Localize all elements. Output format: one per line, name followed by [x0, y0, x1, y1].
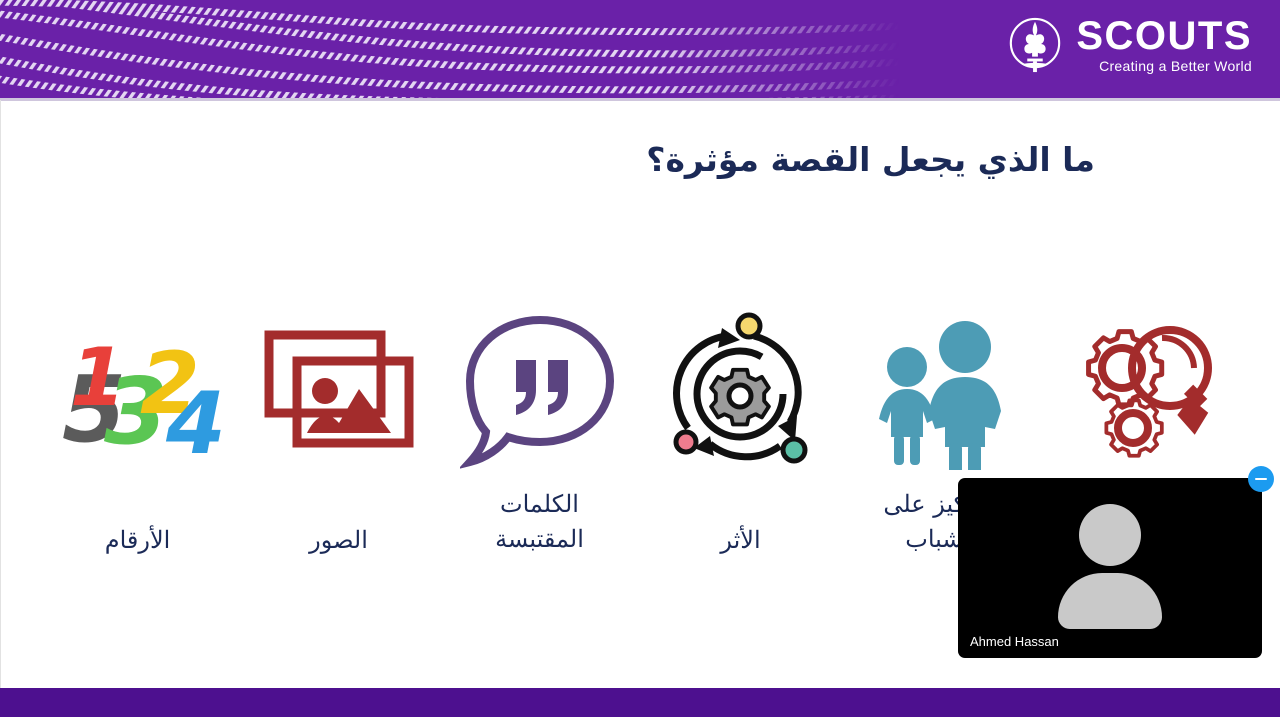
person-placeholder-body-icon	[1058, 573, 1162, 629]
caption-line-1: الأثر	[643, 523, 838, 558]
slide-footer	[0, 688, 1280, 717]
item-photos	[241, 300, 436, 485]
rope-pattern-decoration	[0, 0, 900, 98]
person-placeholder-icon	[1079, 504, 1141, 566]
slide-header: SCOUTS Creating a Better World	[0, 0, 1280, 98]
numbers-icon: 5 1 3 2 4	[48, 300, 228, 485]
header-divider	[0, 98, 1280, 101]
minimize-bar	[1255, 478, 1267, 481]
caption-impact: الأثر	[643, 487, 838, 558]
item-quotes	[442, 300, 637, 485]
caption-photos: الصور	[241, 487, 436, 558]
minimize-icon[interactable]	[1248, 466, 1274, 492]
item-analysis	[1045, 300, 1240, 485]
quote-bubble-icon	[460, 300, 620, 485]
brand-name: SCOUTS	[1076, 16, 1252, 56]
item-youth-focus	[844, 300, 1039, 485]
rope-pattern-svg	[0, 0, 900, 98]
photos-icon	[259, 300, 419, 485]
brand-tagline: Creating a Better World	[1099, 58, 1252, 75]
caption-line-1: الكلمات	[442, 487, 637, 522]
logo-wordmark: SCOUTS Creating a Better World	[1076, 16, 1252, 75]
icon-row: 5 1 3 2 4	[0, 275, 1280, 485]
gears-magnifier-icon	[1060, 300, 1225, 485]
caption-numbers: الأرقام	[40, 487, 235, 558]
presentation-slide: SCOUTS Creating a Better World ما الذي ي…	[0, 0, 1280, 717]
participant-name-label: Ahmed Hassan	[970, 634, 1059, 649]
impact-gear-orbit-icon	[658, 300, 823, 485]
adult-and-child-icon	[867, 300, 1017, 485]
caption-line-2: المقتبسة	[442, 522, 637, 557]
caption-quotes: الكلمات المقتبسة	[442, 487, 637, 558]
video-participant-tile[interactable]: Ahmed Hassan	[958, 478, 1262, 658]
fleur-de-lis-icon	[1006, 14, 1064, 76]
item-numbers: 5 1 3 2 4	[40, 300, 235, 485]
caption-line-1: الصور	[241, 523, 436, 558]
scouts-logo: SCOUTS Creating a Better World	[1006, 14, 1252, 76]
item-impact	[643, 300, 838, 485]
caption-line-1: الأرقام	[40, 523, 235, 558]
page-title: ما الذي يجعل القصة مؤثرة؟	[646, 140, 1095, 179]
svg-text:4: 4	[165, 374, 226, 473]
